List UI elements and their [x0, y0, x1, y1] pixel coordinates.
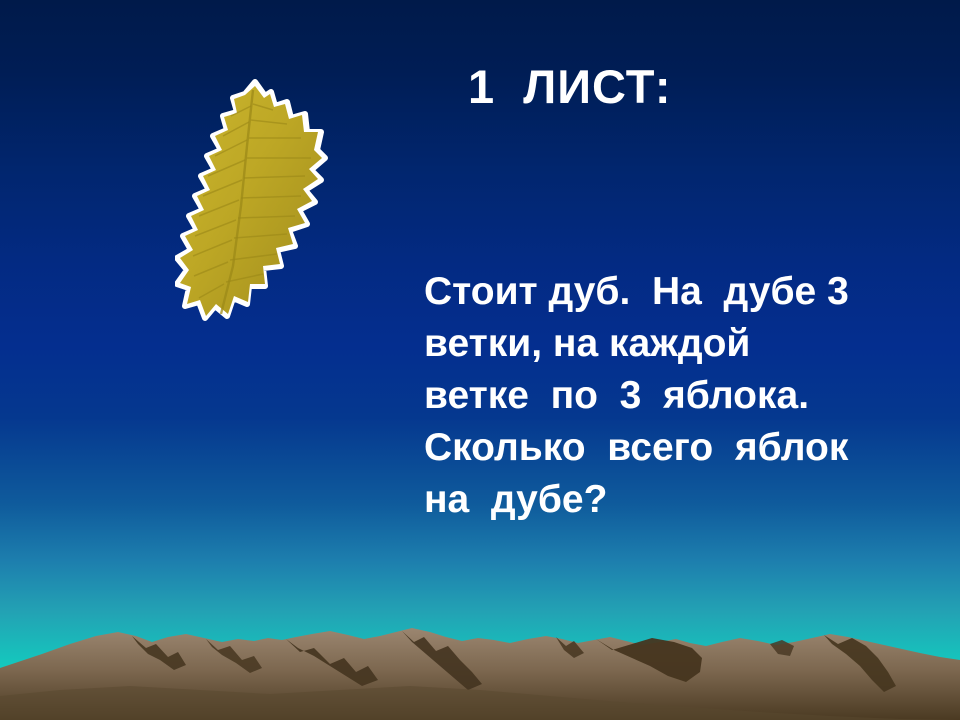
body-line-5: на дубе? — [424, 474, 924, 526]
mountain-landscape-icon — [0, 610, 960, 720]
body-line-3: ветке по 3 яблока. — [424, 370, 924, 422]
slide-body-text: Стоит дуб. На дубе 3 ветки, на каждой ве… — [424, 266, 924, 526]
slide-title: 1 ЛИСТ: — [468, 62, 672, 111]
oak-leaf-icon — [175, 76, 329, 356]
body-line-4: Сколько всего яблок — [424, 422, 924, 474]
body-line-1: Стоит дуб. На дубе 3 — [424, 266, 924, 318]
body-line-2: ветки, на каждой — [424, 318, 924, 370]
slide-canvas: 1 ЛИСТ: Стоит дуб. На дубе 3 ветки, на к… — [0, 0, 960, 720]
